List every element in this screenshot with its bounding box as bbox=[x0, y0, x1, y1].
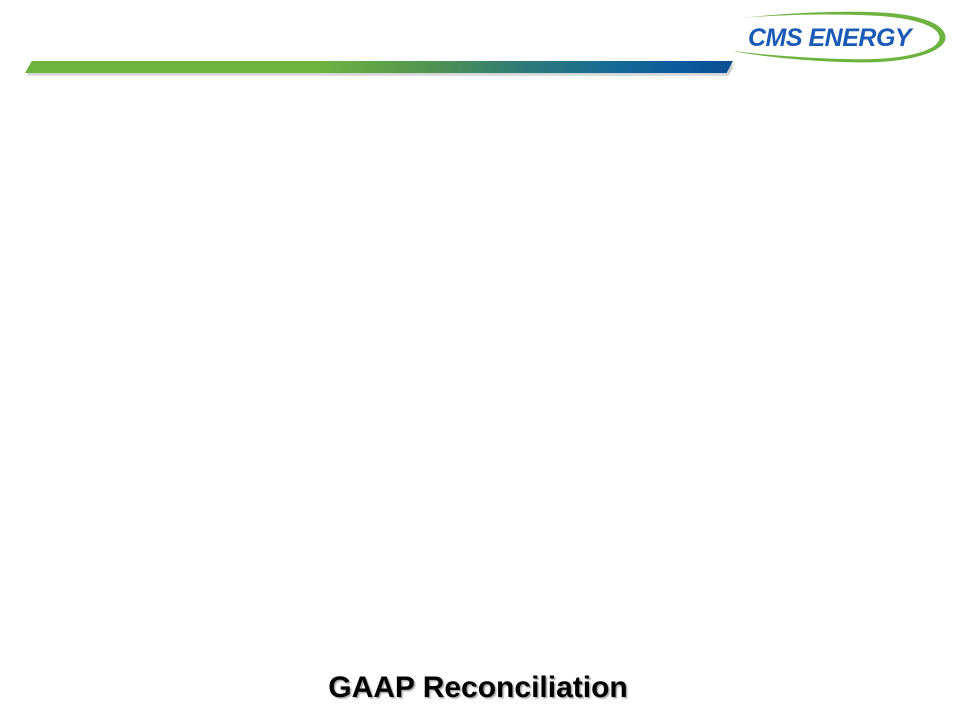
presentation-slide: CMS ENERGY GAAP Reconciliation bbox=[0, 0, 960, 720]
accent-bar bbox=[25, 61, 733, 73]
slide-title: GAAP Reconciliation bbox=[328, 670, 628, 706]
slide-title-container: GAAP Reconciliation bbox=[0, 670, 960, 714]
slide-content-area bbox=[0, 95, 960, 655]
logo-wordmark-text: CMS ENERGY bbox=[748, 24, 914, 52]
cms-energy-logo-svg: CMS ENERGY bbox=[714, 6, 954, 68]
cms-energy-logo: CMS ENERGY bbox=[714, 6, 954, 68]
